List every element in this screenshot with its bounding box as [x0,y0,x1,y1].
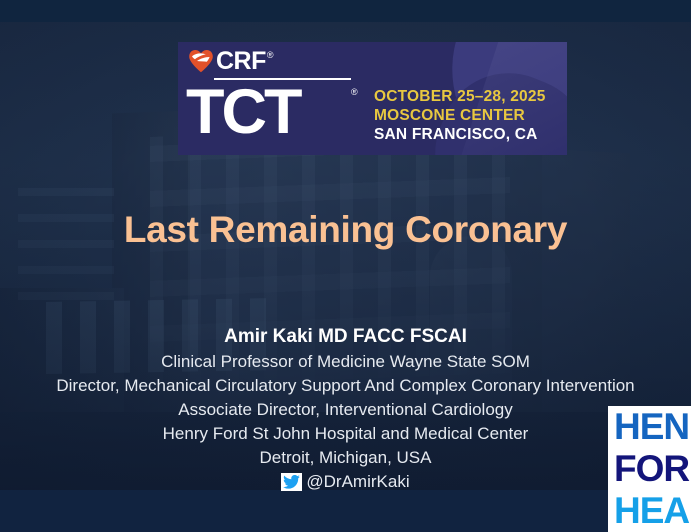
hfh-logo-line-2: FOR [608,448,691,490]
twitter-bird-icon[interactable] [281,473,302,491]
social-handle-text[interactable]: @DrAmirKaki [306,471,409,493]
tct-wordmark: TCT [186,79,299,145]
hfh-logo-line-1: HEN [608,406,691,448]
banner-city-line: SAN FRANCISCO, CA [374,125,546,144]
crf-heart-icon [188,49,214,73]
tct-conference-banner: CRF ® TCT ® OCTOBER 25–28, 2025 MOSCONE … [178,42,567,155]
crf-logo-lockup: CRF ® [188,49,274,73]
social-handle-row[interactable]: @DrAmirKaki [0,471,691,493]
slide-title: Last Remaining Coronary [0,209,691,251]
presenter-affiliation-4: Detroit, Michigan, USA [0,446,691,470]
banner-venue-line: MOSCONE CENTER [374,106,546,125]
presenter-affiliation-0: Clinical Professor of Medicine Wayne Sta… [0,350,691,374]
top-dark-band [0,0,691,22]
presenter-affiliation-3: Henry Ford St John Hospital and Medical … [0,422,691,446]
tct-registered-mark: ® [351,87,358,97]
presenter-block: Amir Kaki MD FACC FSCAI Clinical Profess… [0,324,691,493]
henry-ford-health-logo: HEN FOR HEA [608,406,691,532]
banner-date-line: OCTOBER 25–28, 2025 [374,87,546,106]
presenter-affiliation-2: Associate Director, Interventional Cardi… [0,398,691,422]
presentation-slide: CRF ® TCT ® OCTOBER 25–28, 2025 MOSCONE … [0,0,691,532]
banner-event-details: OCTOBER 25–28, 2025 MOSCONE CENTER SAN F… [374,87,546,144]
presenter-name: Amir Kaki MD FACC FSCAI [0,324,691,350]
bottom-dark-band [0,490,691,532]
presenter-affiliation-1: Director, Mechanical Circulatory Support… [0,374,691,398]
crf-wordmark: CRF [216,49,266,73]
hfh-logo-line-3: HEA [608,490,691,532]
crf-registered-mark: ® [267,50,274,60]
